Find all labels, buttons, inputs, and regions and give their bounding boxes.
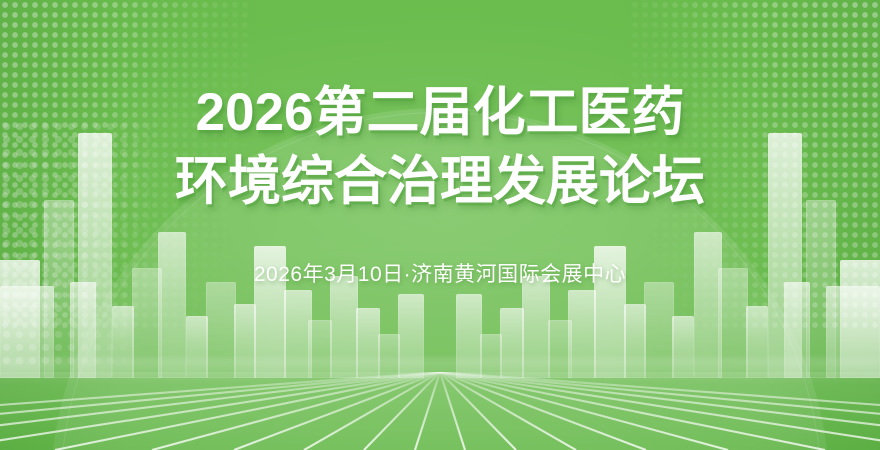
skyline-building [158,232,186,378]
city-skyline-silhouette [0,48,880,378]
event-banner: 2026第二届化工医药 环境综合治理发展论坛 2026年3月10日·济南黄河国际… [0,0,880,450]
skyline-building [78,133,112,378]
perspective-grid-floor [0,372,880,450]
